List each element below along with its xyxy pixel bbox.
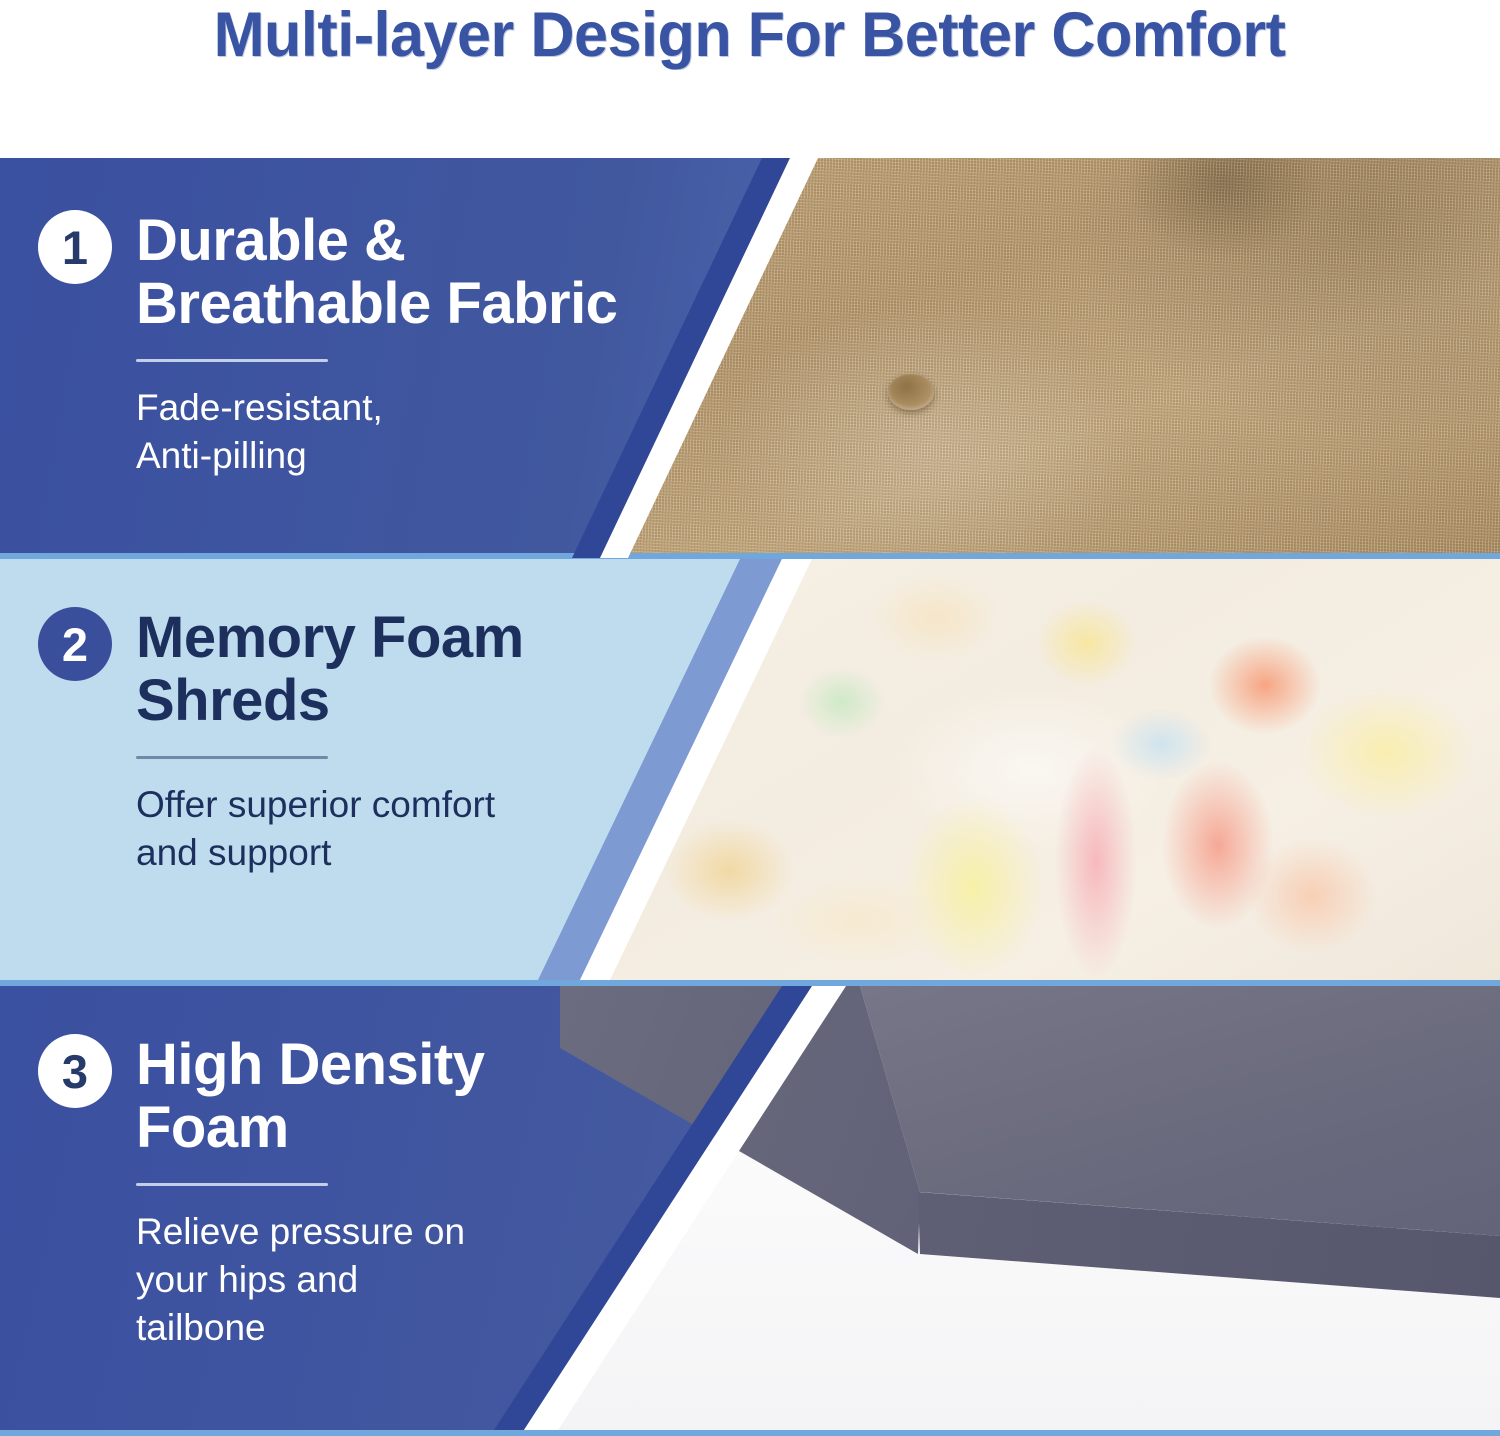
panel-2-head-row: 2 Memory Foam Shreds <box>38 607 524 732</box>
feature-panel-2: 2 Memory Foam Shreds Offer superior comf… <box>0 559 1500 980</box>
panel-1-subtext: Fade-resistant, Anti-pilling <box>136 384 617 480</box>
panel-3-subtext: Relieve pressure on your hips and tailbo… <box>136 1208 485 1352</box>
panel-1-headline: Durable & Breathable Fabric <box>136 210 617 335</box>
step-number-badge-3: 3 <box>38 1034 112 1108</box>
panel-2-divider <box>136 756 328 759</box>
panel-1-content: 1 Durable & Breathable Fabric Fade-resis… <box>38 210 617 480</box>
panel-3-head-row: 3 High Density Foam <box>38 1034 485 1159</box>
panel-2-subtext: Offer superior comfort and support <box>136 781 524 877</box>
panel-3-headline: High Density Foam <box>136 1034 485 1159</box>
feature-panel-1: 1 Durable & Breathable Fabric Fade-resis… <box>0 158 1500 558</box>
panel-3-divider <box>136 1183 328 1186</box>
tufted-button-dimple <box>888 374 934 410</box>
title-bar: Multi-layer Design For Better Comfort <box>0 0 1500 158</box>
panel-1-divider <box>136 359 328 362</box>
page-title: Multi-layer Design For Better Comfort <box>214 2 1286 68</box>
separator-band-3 <box>0 1430 1500 1436</box>
panel-2-headline: Memory Foam Shreds <box>136 607 524 732</box>
panel-2-content: 2 Memory Foam Shreds Offer superior comf… <box>38 607 524 877</box>
step-number-badge-2: 2 <box>38 607 112 681</box>
step-number-badge-1: 1 <box>38 210 112 284</box>
panel-1-head-row: 1 Durable & Breathable Fabric <box>38 210 617 335</box>
infographic-root: Multi-layer Design For Better Comfort 1 … <box>0 0 1500 1436</box>
panel-3-content: 3 High Density Foam Relieve pressure on … <box>38 1034 485 1353</box>
feature-panel-3: 3 High Density Foam Relieve pressure on … <box>0 986 1500 1430</box>
